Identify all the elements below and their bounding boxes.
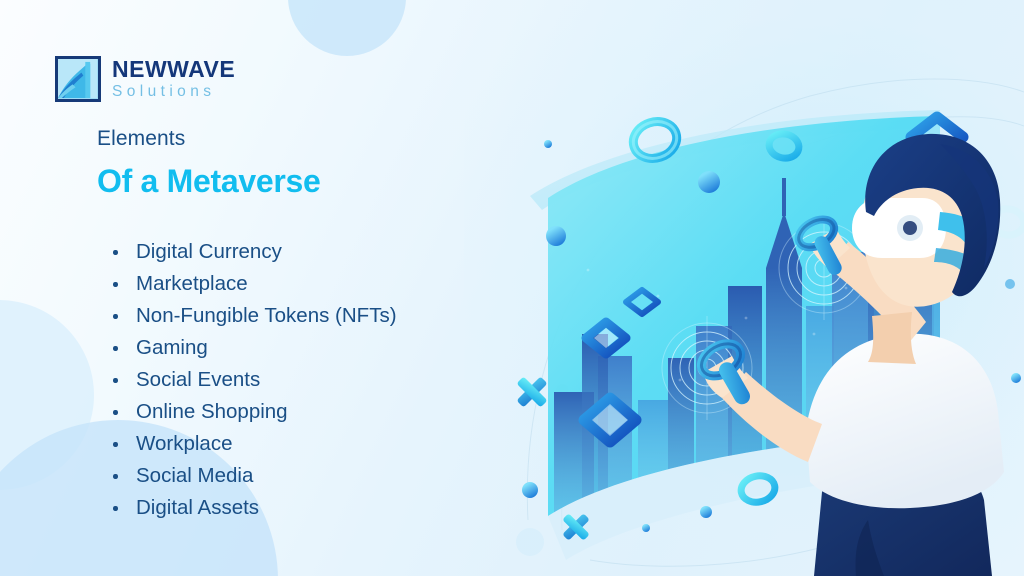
list-item-label: Digital Assets (136, 496, 259, 519)
eyebrow-text: Elements (97, 127, 185, 151)
bullet-dot-icon (113, 410, 118, 415)
list-item-label: Digital Currency (136, 240, 282, 263)
bullet-dot-icon (113, 314, 118, 319)
list-item: Digital Assets (108, 492, 397, 524)
brand-name: NEWWAVE (112, 58, 235, 81)
list-item: Gaming (108, 332, 397, 364)
list-item-label: Online Shopping (136, 400, 288, 423)
bullet-dot-icon (113, 250, 118, 255)
bullet-dot-icon (113, 506, 118, 511)
bullet-dot-icon (113, 442, 118, 447)
brand-logo: NEWWAVE Solutions (55, 56, 235, 102)
list-item-label: Marketplace (136, 272, 248, 295)
metaverse-illustration (470, 0, 1024, 576)
bullet-dot-icon (113, 282, 118, 287)
list-item: Social Events (108, 364, 397, 396)
bullet-dot-icon (113, 474, 118, 479)
list-item: Online Shopping (108, 396, 397, 428)
list-item: Non-Fungible Tokens (NFTs) (108, 300, 397, 332)
list-item-label: Social Media (136, 464, 253, 487)
list-item: Workplace (108, 428, 397, 460)
list-item-label: Gaming (136, 336, 208, 359)
list-item-label: Non-Fungible Tokens (NFTs) (136, 304, 397, 327)
list-item: Digital Currency (108, 236, 397, 268)
list-item-label: Workplace (136, 432, 232, 455)
list-item-label: Social Events (136, 368, 260, 391)
content-column: NEWWAVE Solutions Elements Of a Metavers… (0, 0, 500, 576)
page-title: Of a Metaverse (97, 163, 320, 200)
list-item: Social Media (108, 460, 397, 492)
bullet-dot-icon (113, 346, 118, 351)
brand-subtitle: Solutions (112, 84, 235, 100)
wave-graph-square-icon (55, 56, 101, 102)
brand-wordmark: NEWWAVE Solutions (112, 58, 235, 100)
feature-list: Digital CurrencyMarketplaceNon-Fungible … (108, 236, 397, 524)
list-item: Marketplace (108, 268, 397, 300)
bullet-dot-icon (113, 378, 118, 383)
